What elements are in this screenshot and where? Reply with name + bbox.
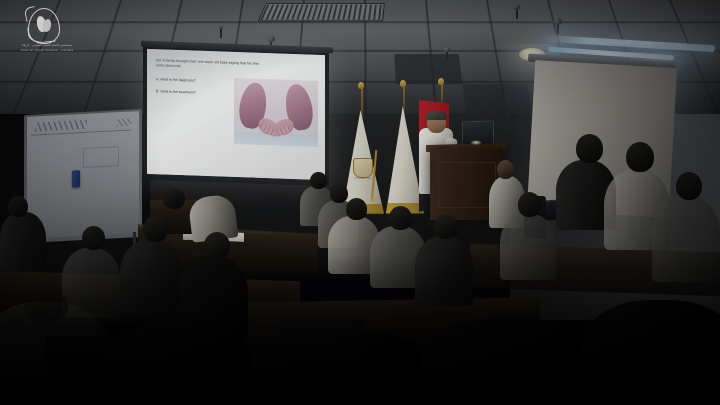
watermark-swoosh-icon bbox=[27, 25, 56, 45]
attendee-head bbox=[8, 196, 28, 217]
attendee-head bbox=[497, 160, 514, 179]
attendee-torso bbox=[652, 196, 720, 282]
chair-back bbox=[46, 336, 116, 394]
attendee-torso bbox=[0, 212, 46, 272]
podium-front-panel bbox=[438, 162, 496, 208]
attendee-head bbox=[576, 134, 603, 163]
attendee-head bbox=[143, 216, 168, 242]
clinical-photo-clubfoot bbox=[234, 78, 318, 147]
projection-screen: Q4: A family brought their one week old … bbox=[147, 49, 325, 180]
whiteboard bbox=[27, 111, 139, 239]
attendee-head-foreground bbox=[24, 288, 68, 322]
laptop-screen-glow bbox=[470, 140, 482, 145]
attendee-head bbox=[389, 206, 412, 230]
attendee-head bbox=[626, 142, 654, 172]
whiteboard-marker bbox=[72, 170, 80, 187]
smoke-detector-icon bbox=[219, 26, 223, 29]
watermark-arabic-text: مستشفى الامام الحجة التعليمي - كربلاء bbox=[8, 43, 86, 47]
attendee-head bbox=[310, 172, 327, 189]
presenter-hair bbox=[426, 111, 447, 120]
attendee-head bbox=[518, 192, 541, 217]
whiteboard-writing bbox=[117, 118, 131, 126]
attendee-head bbox=[204, 232, 230, 259]
flag-tassel-knot bbox=[371, 198, 375, 202]
attendee-torso-foreground bbox=[580, 300, 720, 405]
ceiling-projector-mount-icon bbox=[513, 4, 520, 10]
watermark-english-text: Imam Al Hujjah Hospital - Karbala bbox=[8, 48, 86, 52]
whiteboard-faint-diagram bbox=[83, 146, 119, 168]
smoke-detector-icon bbox=[443, 47, 450, 52]
attendee-torso-foreground bbox=[104, 322, 254, 405]
lecture-hall-photo: Q4: A family brought their one week old … bbox=[0, 0, 720, 405]
attendee-torso bbox=[120, 240, 182, 316]
slide-question-text: Q4: A family brought their one week old … bbox=[156, 58, 260, 72]
attendee-head bbox=[346, 198, 367, 220]
air-vent bbox=[258, 3, 385, 21]
emblem-shield-icon bbox=[353, 158, 373, 178]
ceiling-speaker-icon bbox=[553, 18, 562, 25]
attendee-head bbox=[163, 188, 185, 209]
attendee-head bbox=[330, 184, 348, 203]
smoke-detector-icon bbox=[267, 36, 275, 42]
attendee-torso bbox=[500, 214, 556, 280]
presentation-slide: Q4: A family brought their one week old … bbox=[147, 49, 325, 180]
attendee-head bbox=[434, 214, 458, 239]
whiteboard-writing bbox=[35, 120, 87, 132]
flag-finial-icon bbox=[438, 78, 444, 85]
chair-back bbox=[286, 318, 364, 380]
attendee-head bbox=[82, 226, 105, 250]
attendee-torso bbox=[415, 236, 473, 306]
hospital-watermark: مستشفى الامام الحجة التعليمي - كربلاء Im… bbox=[8, 6, 86, 54]
flag-finial-icon bbox=[400, 80, 406, 87]
flag-finial-icon bbox=[358, 82, 364, 89]
vent-slats-icon bbox=[260, 5, 382, 20]
attendee-head bbox=[676, 172, 702, 200]
attendee-torso-foreground bbox=[420, 318, 600, 405]
